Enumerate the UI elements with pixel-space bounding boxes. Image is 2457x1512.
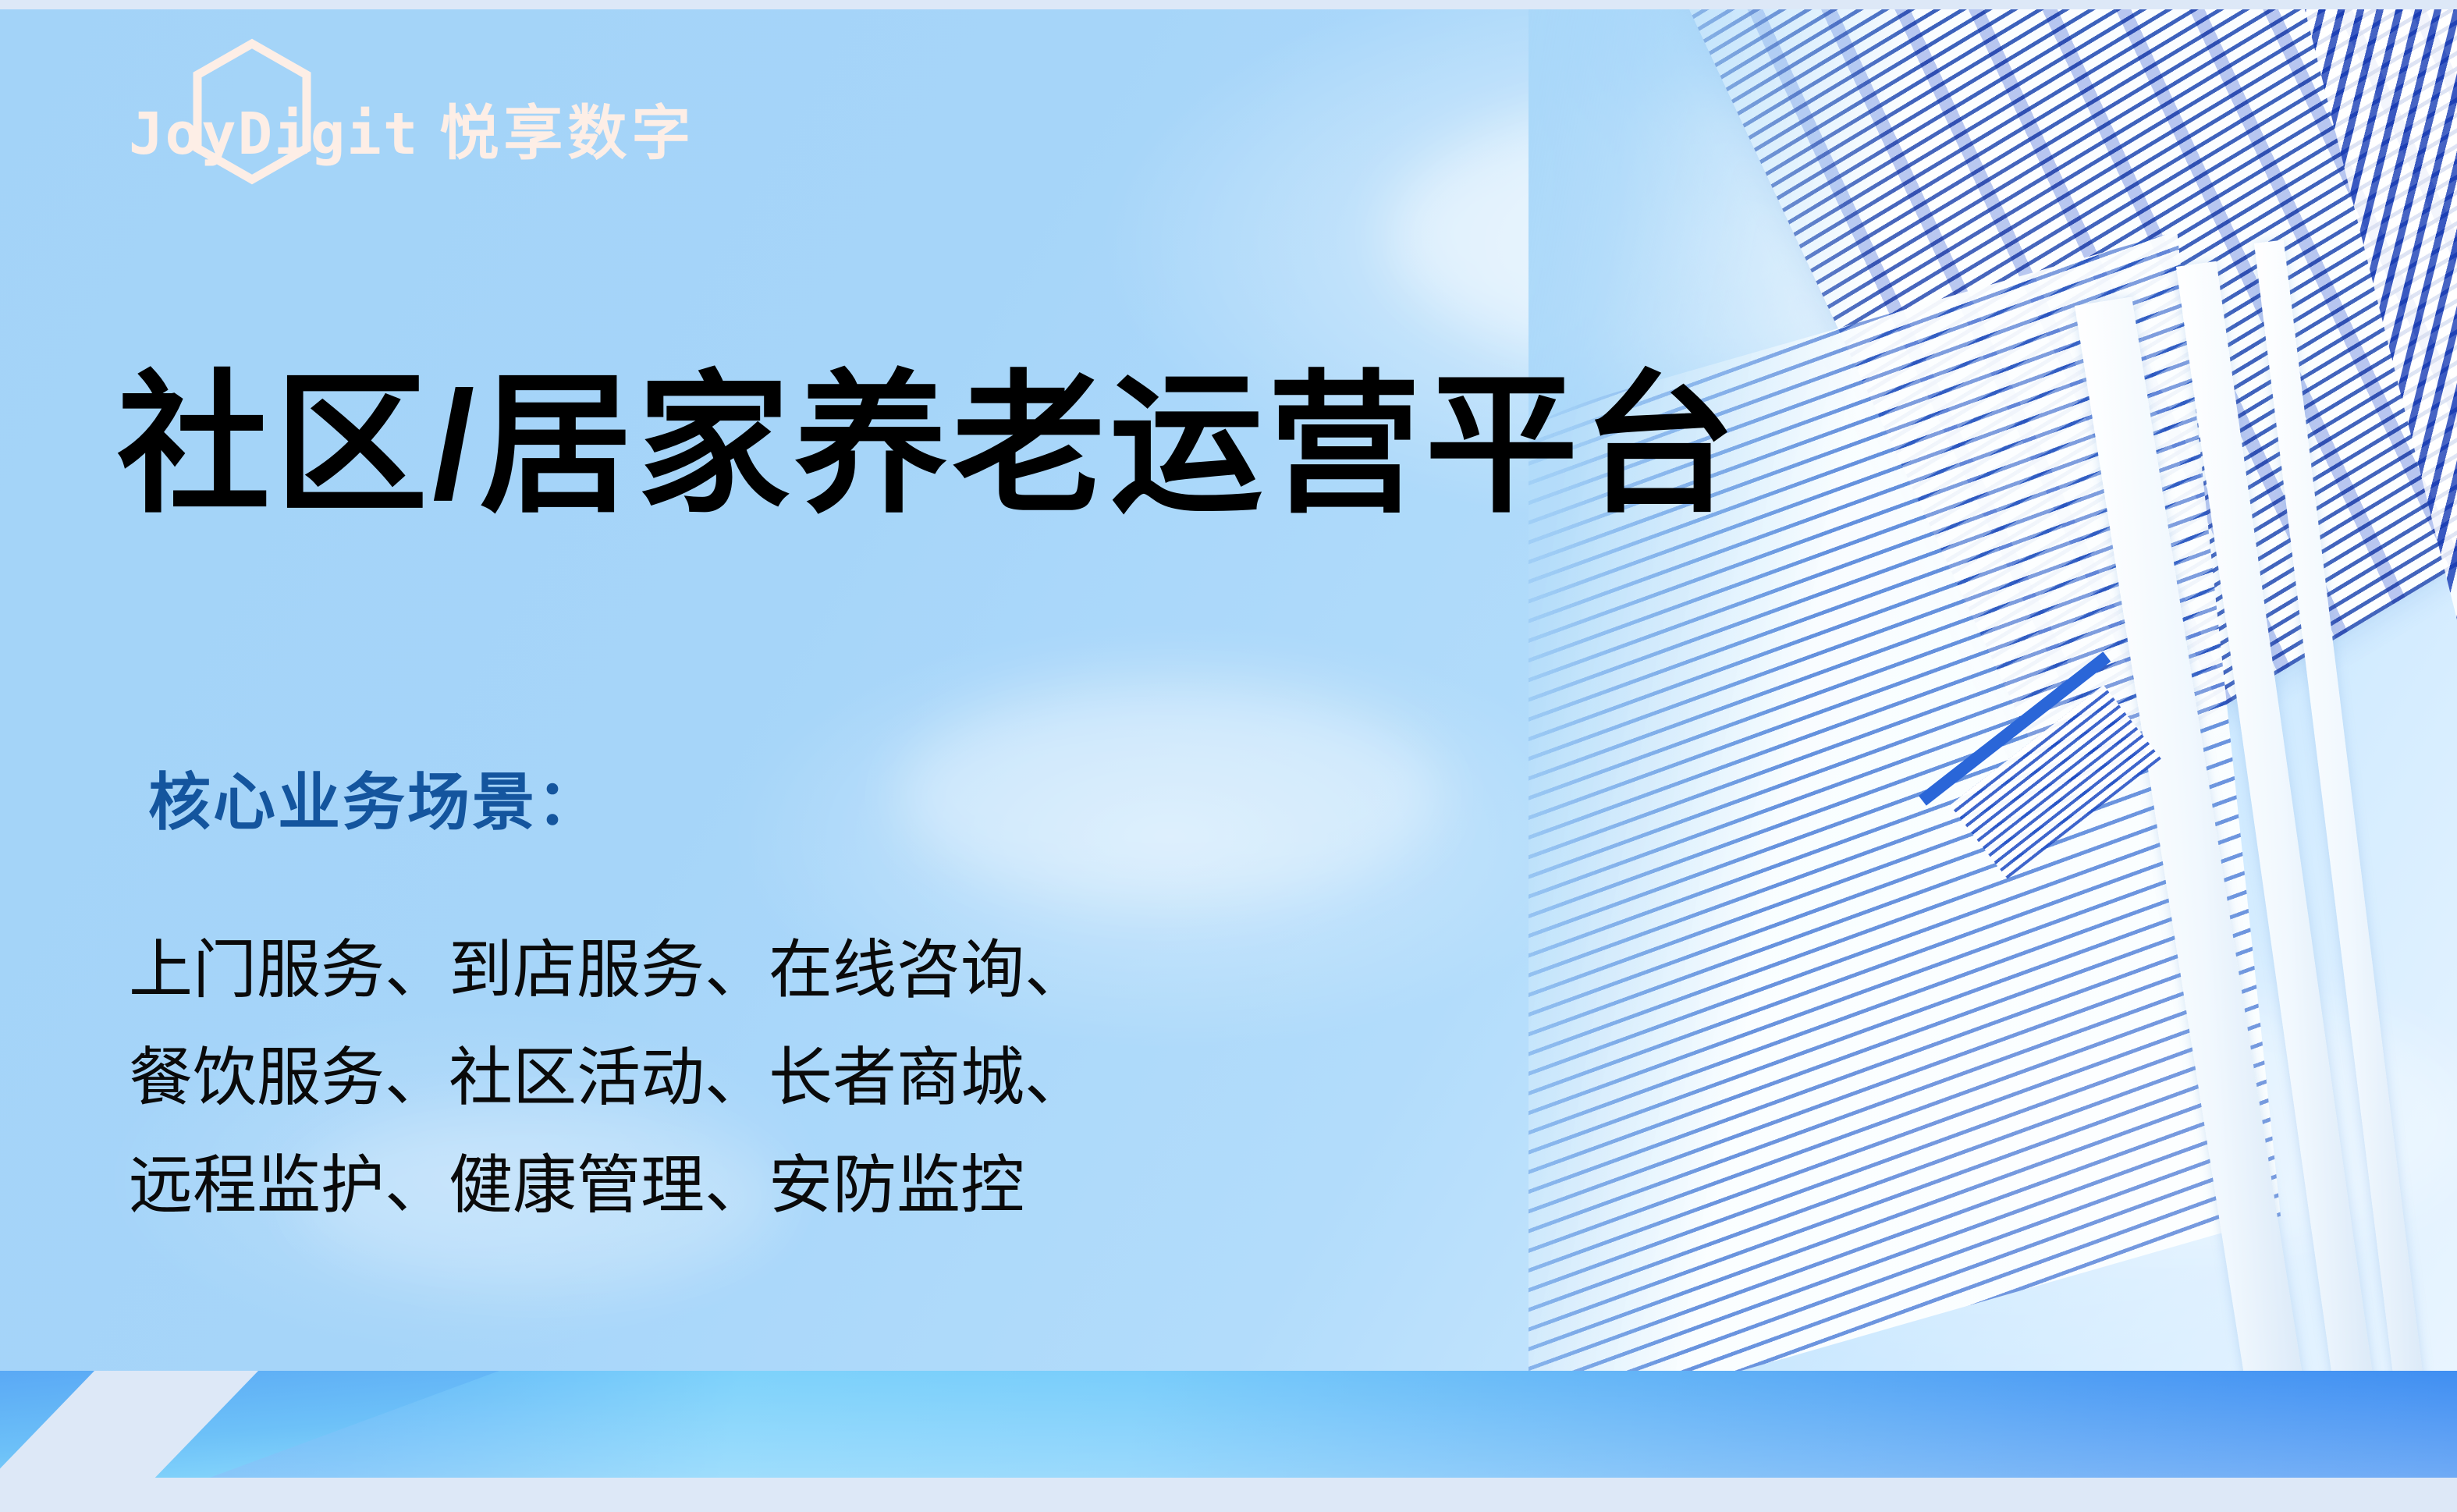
logo-english-text: JoyDigit [129, 105, 419, 163]
core-scenarios-list: 上门服务、到店服务、在线咨询、 餐饮服务、社区活动、长者商城、 远程监护、健康管… [129, 917, 1088, 1239]
top-strip [0, 0, 2457, 9]
slide-canvas: JoyDigit 悦享数字 社区/居家养老运营平台 核心业务场景： 上门服务、到… [0, 0, 2457, 1512]
logo-text-group: JoyDigit 悦享数字 [129, 59, 695, 164]
scenario-line-2: 餐饮服务、社区活动、长者商城、 [129, 1024, 1088, 1132]
logo-chinese-text: 悦享数字 [439, 105, 695, 164]
core-scenarios-heading: 核心业务场景： [148, 768, 602, 837]
page-title: 社区/居家养老运营平台 [117, 360, 1740, 531]
brand-logo: JoyDigit 悦享数字 [129, 37, 695, 186]
band-bottom-pale-strip [0, 1478, 2457, 1512]
skyscraper-photo [1529, 9, 2457, 1371]
cloud-wisp-2 [897, 687, 1443, 905]
scenario-line-1: 上门服务、到店服务、在线咨询、 [129, 917, 1088, 1024]
bottom-decorative-band [0, 1371, 2457, 1512]
scenario-line-3: 远程监护、健康管理、安防监控 [129, 1132, 1088, 1240]
